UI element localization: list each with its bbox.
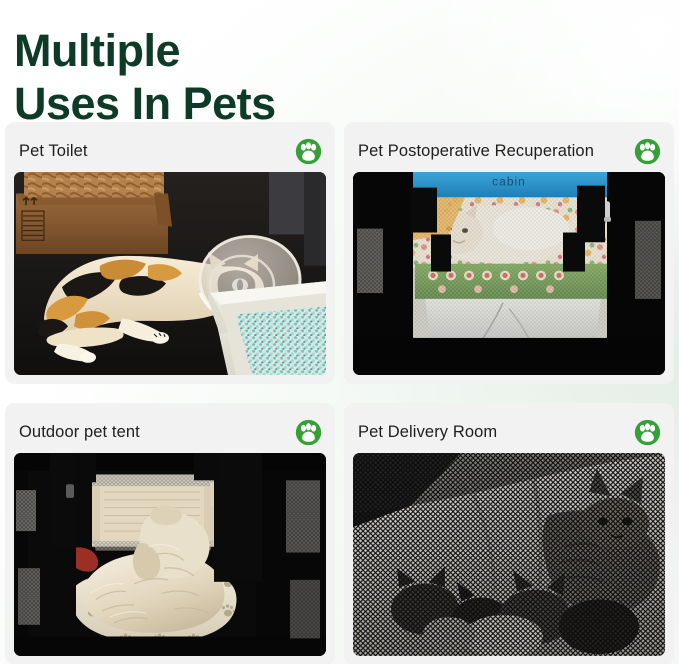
use-case-card-pet-postoperative-recuperation[interactable]: Pet Postoperative Recuperation — [344, 122, 674, 384]
page-root: Multiple Uses In Pets Pet Toilet — [0, 0, 679, 664]
use-case-card-pet-delivery-room[interactable]: Pet Delivery Room — [344, 403, 674, 664]
card-title: Pet Delivery Room — [358, 423, 497, 442]
paw-badge-icon — [634, 138, 661, 165]
paw-badge-icon — [634, 419, 661, 446]
card-header: Pet Delivery Room — [353, 411, 665, 453]
card-header: Pet Toilet — [14, 130, 326, 172]
card-header: Outdoor pet tent — [14, 411, 326, 453]
paw-badge-icon — [295, 138, 322, 165]
cat-with-cone-beside-litter-box-photo — [14, 172, 326, 375]
use-case-card-grid: Pet Toilet — [5, 122, 674, 664]
card-title: Pet Postoperative Recuperation — [358, 142, 594, 161]
carrier-brand-label: cabin — [492, 175, 526, 189]
page-title: Multiple Uses In Pets — [14, 24, 534, 130]
paw-badge-icon — [295, 419, 322, 446]
page-title-line-1: Multiple — [14, 24, 534, 77]
pet-inside-blue-cabin-carrier-photo: cabin — [353, 172, 665, 375]
cat-with-kittens-behind-mesh-photo — [353, 453, 665, 656]
use-case-card-pet-toilet[interactable]: Pet Toilet — [5, 122, 335, 384]
card-title: Pet Toilet — [19, 142, 88, 161]
use-case-card-outdoor-pet-tent[interactable]: Outdoor pet tent — [5, 403, 335, 664]
fluffy-dog-in-black-pet-tent-photo — [14, 453, 326, 656]
card-header: Pet Postoperative Recuperation — [353, 130, 665, 172]
card-title: Outdoor pet tent — [19, 423, 140, 442]
